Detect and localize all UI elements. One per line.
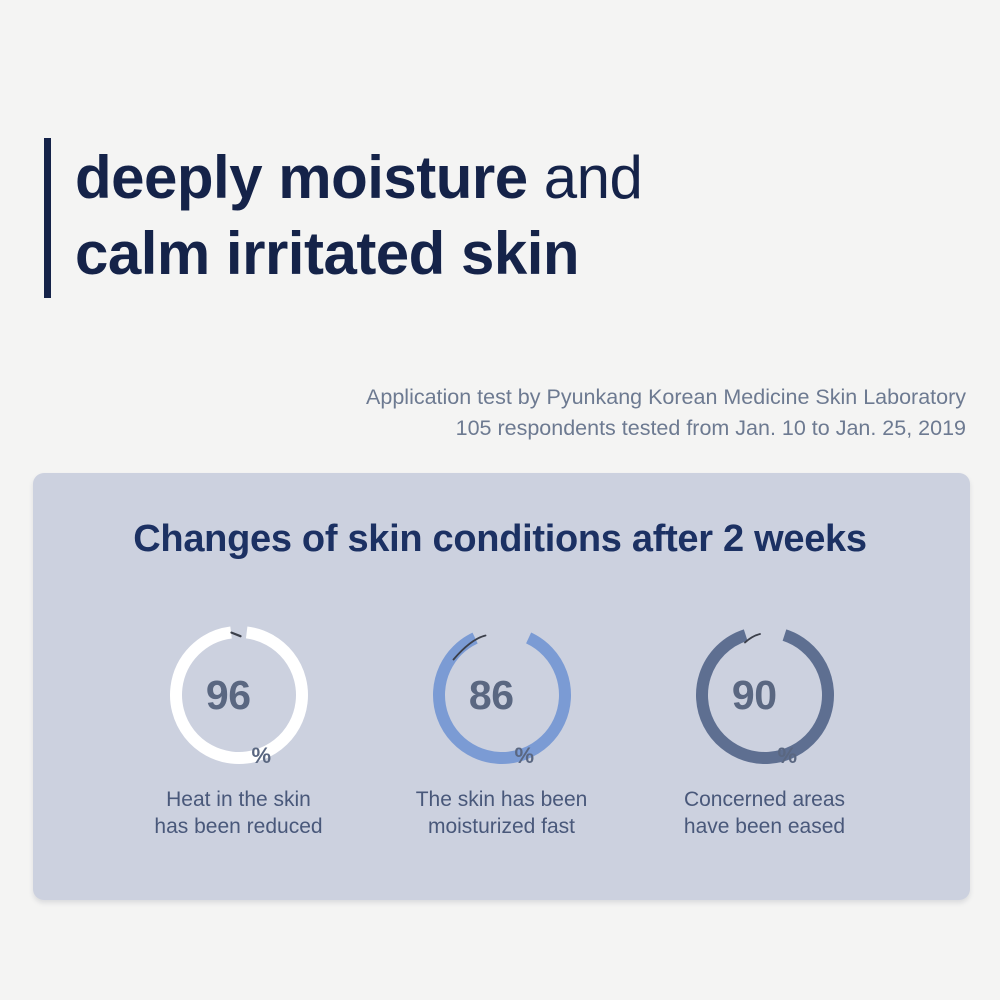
headline-accent-bar xyxy=(44,138,51,298)
donut-chart-1: 96% xyxy=(164,620,314,770)
headline-line-2: calm irritated skin xyxy=(75,216,642,292)
donut-arc-2 xyxy=(427,620,577,770)
donut-caption-3-line-2: have been eased xyxy=(684,813,845,840)
donut-stat-2: 86% The skin has been moisturized fast xyxy=(370,620,633,840)
headline-line-1-strong: deeply moisture xyxy=(75,144,528,211)
donut-caption-2-line-1: The skin has been xyxy=(416,786,588,813)
donut-caption-1-line-2: has been reduced xyxy=(154,813,322,840)
headline-text: deeply moisture and calm irritated skin xyxy=(75,138,642,298)
donut-caption-2: The skin has been moisturized fast xyxy=(416,786,588,840)
study-credit-line-2: 105 respondents tested from Jan. 10 to J… xyxy=(366,413,966,444)
donut-caption-1-line-1: Heat in the skin xyxy=(154,786,322,813)
donut-stat-1: 96% Heat in the skin has been reduced xyxy=(107,620,370,840)
headline-line-1: deeply moisture and xyxy=(75,140,642,216)
donut-caption-3-line-1: Concerned areas xyxy=(684,786,845,813)
headline-line-2-strong: calm irritated skin xyxy=(75,220,579,287)
donut-chart-row: 96% Heat in the skin has been reduced 86… xyxy=(33,620,970,840)
donut-chart-2: 86% xyxy=(427,620,577,770)
donut-caption-2-line-2: moisturized fast xyxy=(416,813,588,840)
panel-title: Changes of skin conditions after 2 weeks xyxy=(0,518,1000,561)
donut-chart-2-svg xyxy=(427,620,577,770)
donut-arc-1 xyxy=(168,625,308,765)
study-credit-line-1: Application test by Pyunkang Korean Medi… xyxy=(366,382,966,413)
donut-chart-1-svg xyxy=(164,620,314,770)
donut-caption-3: Concerned areas have been eased xyxy=(684,786,845,840)
headline-line-1-light: and xyxy=(528,144,643,211)
donut-caption-1: Heat in the skin has been reduced xyxy=(154,786,322,840)
study-credit: Application test by Pyunkang Korean Medi… xyxy=(366,382,966,444)
donut-arc-3 xyxy=(690,620,840,770)
headline-block: deeply moisture and calm irritated skin xyxy=(44,138,642,298)
donut-chart-3-svg xyxy=(690,620,840,770)
donut-chart-3: 90% xyxy=(690,620,840,770)
donut-stat-3: 90% Concerned areas have been eased xyxy=(633,620,896,840)
